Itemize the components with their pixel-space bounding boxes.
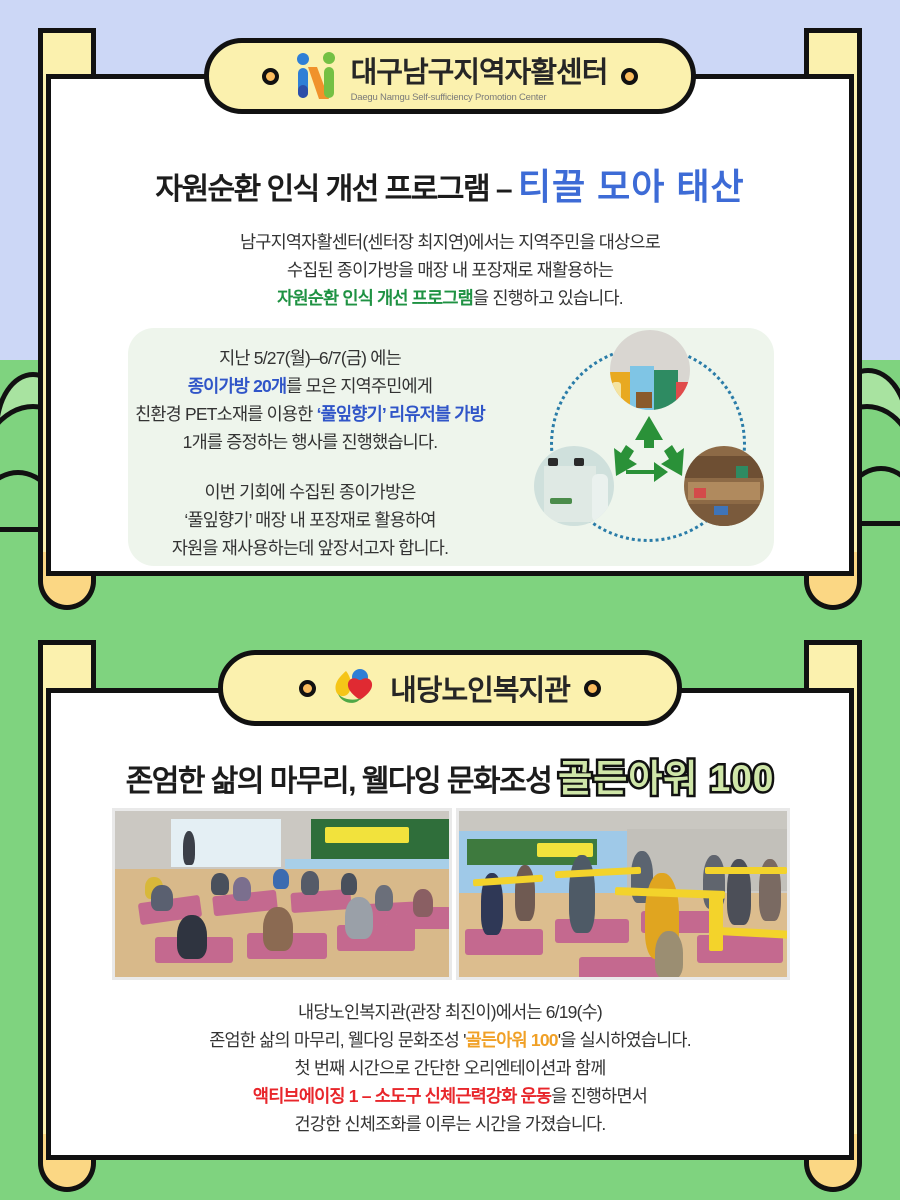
intro-highlight: 자원순환 인식 개선 프로그램 (277, 288, 473, 308)
headline-accent: 골든아워 100 (558, 758, 774, 799)
outro-line-2-pre: 존엄한 삶의 마무리, 웰다잉 문화조성 ' (209, 1030, 465, 1050)
outro-line-4: 액티브에이징 1 – 소도구 신체근력강화 운동을 진행하면서 (0, 1082, 900, 1110)
intro-line-3: 자원순환 인식 개선 프로그램을 진행하고 있습니다. (0, 284, 900, 312)
outro-line-2: 존엄한 삶의 마무리, 웰다잉 문화조성 '골든아워 100'을 실시하였습니다… (0, 1026, 900, 1054)
organization-name: 내당노인복지관 (390, 667, 570, 709)
band-exercise-photo (456, 808, 790, 980)
headline-accent: 티끌 모아 태산 (518, 166, 745, 207)
intro-line-2: 수집된 종이가방을 매장 내 포장재로 재활용하는 (0, 256, 900, 284)
headline-lead: 자원순환 인식 개선 프로그램 – (155, 173, 511, 206)
article-card-resource-recycling: 대구남구지역자활센터 Daegu Namgu Self-sufficiency … (0, 28, 900, 598)
outro-paragraph: 내당노인복지관(관장 최진이)에서는 6/19(수) 존엄한 삶의 마무리, 웰… (0, 998, 900, 1138)
organization-name-block: 대구남구지역자활센터 Daegu Namgu Self-sufficiency … (351, 49, 608, 103)
infobox-p2-line-2: ‘풀잎향기’ 매장 내 포장재로 활용하여 (0, 506, 620, 534)
collected-goods-photo (684, 446, 764, 526)
outro-highlight-activity: 액티브에이징 1 – 소도구 신체근력강화 운동 (253, 1086, 551, 1106)
infobox-line-3: 친환경 PET소재를 이용한 ‘풀잎향기’ 리유저블 가방 (0, 400, 620, 428)
outro-line-1: 내당노인복지관(관장 최진이)에서는 6/19(수) (0, 998, 900, 1026)
organization-plaque: 내당노인복지관 (218, 650, 682, 726)
reusable-bag-photo (534, 446, 614, 526)
infobox-line-2-rest: 를 모은 지역주민에게 (286, 376, 432, 396)
outro-line-4-rest: 을 진행하면서 (551, 1086, 647, 1106)
orientation-seated-photo (112, 808, 452, 980)
infobox-highlight-bag: ‘풀잎향기’ 리유저블 가방 (317, 404, 485, 424)
outro-line-2-post: '을 실시하였습니다. (558, 1030, 691, 1050)
intro-line-1: 남구지역자활센터(센터장 최지연)에서는 지역주민을 대상으로 (0, 228, 900, 256)
daegu-namgu-self-sufficiency-logo-icon (293, 51, 337, 101)
screw-dot-icon (584, 680, 601, 697)
organization-subtitle: Daegu Namgu Self-sufficiency Promotion C… (351, 92, 547, 103)
recycling-cycle-diagram (528, 328, 768, 558)
infobox-line-4: 1개를 증정하는 행사를 진행했습니다. (0, 428, 620, 456)
infobox-p2-line-3: 자원을 재사용하는데 앞장서고자 합니다. (0, 534, 620, 562)
screw-dot-icon (621, 68, 638, 85)
outro-line-3: 첫 번째 시간으로 간단한 오리엔테이션과 함께 (0, 1054, 900, 1082)
paper-bags-photo (610, 330, 690, 410)
outro-line-5: 건강한 신체조화를 이루는 시간을 가졌습니다. (0, 1110, 900, 1138)
card-headline: 존엄한 삶의 마무리, 웰다잉 문화조성 골든아워 100 (0, 748, 900, 802)
organization-name: 대구남구지역자활센터 (351, 49, 608, 91)
outro-highlight-program: 골든아워 100 (466, 1030, 558, 1050)
recycle-arrows-icon (610, 414, 688, 488)
infobox-highlight-count: 종이가방 20개 (188, 376, 286, 396)
intro-line-3-rest: 을 진행하고 있습니다. (473, 288, 623, 308)
article-card-golden-hour: 내당노인복지관 존엄한 삶의 마무리, 웰다잉 문화조성 골든아워 100 (0, 640, 900, 1180)
infobox-line-3-pre: 친환경 PET소재를 이용한 (135, 404, 317, 424)
infobox-paragraph-2: 이번 기회에 수집된 종이가방은 ‘풀잎향기’ 매장 내 포장재로 활용하여 자… (0, 478, 620, 562)
organization-plaque: 대구남구지역자활센터 Daegu Namgu Self-sufficiency … (204, 38, 696, 114)
infobox-paragraph-1: 지난 5/27(월)–6/7(금) 에는 종이가방 20개를 모은 지역주민에게… (0, 344, 620, 456)
infobox-p2-line-1: 이번 기회에 수집된 종이가방은 (0, 478, 620, 506)
headline-lead: 존엄한 삶의 마무리, 웰다잉 문화조성 (126, 765, 552, 798)
infobox-line-2: 종이가방 20개를 모은 지역주민에게 (0, 372, 620, 400)
infobox-line-1: 지난 5/27(월)–6/7(금) 에는 (0, 344, 620, 372)
screw-dot-icon (262, 68, 279, 85)
naedang-senior-welfare-logo-icon (330, 668, 376, 708)
intro-paragraph: 남구지역자활센터(센터장 최지연)에서는 지역주민을 대상으로 수집된 종이가방… (0, 228, 900, 312)
card-headline: 자원순환 인식 개선 프로그램 – 티끌 모아 태산 (0, 158, 900, 210)
screw-dot-icon (299, 680, 316, 697)
